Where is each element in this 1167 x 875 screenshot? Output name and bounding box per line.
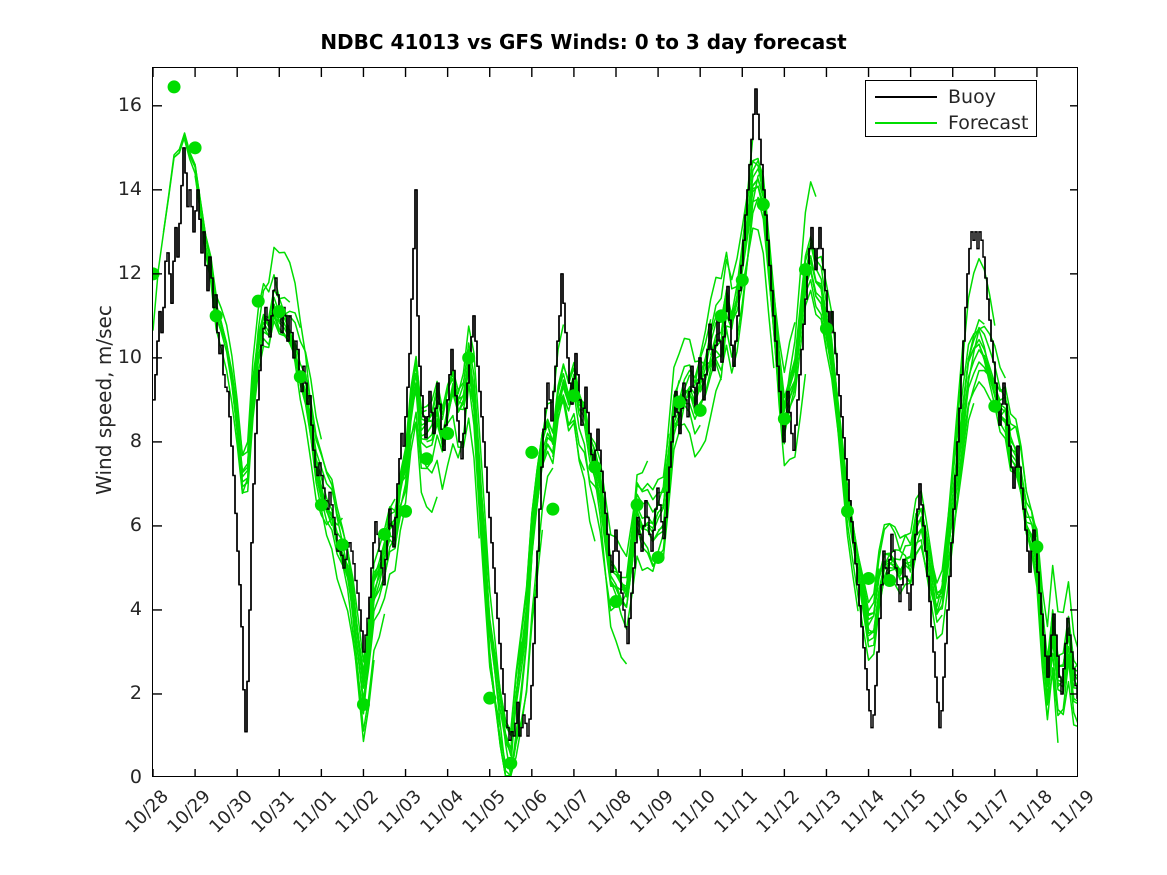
chart-figure: NDBC 41013 vs GFS Winds: 0 to 3 day fore… xyxy=(0,0,1167,875)
y-tick-label: 10 xyxy=(100,346,142,368)
forecast-marker xyxy=(504,757,517,770)
forecast-marker xyxy=(631,498,644,511)
forecast-marker xyxy=(252,295,265,308)
legend-entry-forecast: Forecast xyxy=(866,110,1038,136)
forecast-marker xyxy=(441,427,454,440)
y-tick-label: 2 xyxy=(100,682,142,704)
forecast-marker xyxy=(652,551,665,564)
forecast-marker xyxy=(757,198,770,211)
forecast-run-line xyxy=(490,364,616,749)
y-tick-label: 6 xyxy=(100,514,142,536)
forecast-marker xyxy=(841,505,854,518)
forecast-marker xyxy=(462,351,475,364)
axis-inner-ticks xyxy=(153,68,1078,777)
forecast-marker xyxy=(610,595,623,608)
forecast-run-line xyxy=(953,344,1078,652)
forecast-marker xyxy=(420,452,433,465)
forecast-run-line xyxy=(227,315,353,596)
plot-area xyxy=(152,67,1078,777)
forecast-marker xyxy=(799,263,812,276)
buoy-series-line xyxy=(153,89,1078,740)
forecast-marker xyxy=(546,503,559,516)
forecast-marker xyxy=(357,698,370,711)
forecast-marker xyxy=(1030,540,1043,553)
forecast-marker xyxy=(189,141,202,154)
forecast-series-lines xyxy=(153,133,1078,776)
forecast-marker xyxy=(736,274,749,287)
forecast-marker xyxy=(778,412,791,425)
forecast-marker xyxy=(210,309,223,322)
y-tick-label: 16 xyxy=(100,94,142,116)
chart-legend: Buoy Forecast xyxy=(865,80,1037,137)
forecast-marker xyxy=(525,446,538,459)
legend-label-buoy: Buoy xyxy=(948,88,996,107)
forecast-marker xyxy=(715,309,728,322)
forecast-run-line xyxy=(921,350,1047,718)
forecast-marker xyxy=(336,538,349,551)
legend-swatch-buoy xyxy=(875,96,937,98)
forecast-marker xyxy=(862,572,875,585)
forecast-marker xyxy=(988,400,1001,413)
legend-swatch-forecast xyxy=(875,122,937,124)
y-tick-label: 8 xyxy=(100,430,142,452)
y-tick-label: 0 xyxy=(100,766,142,788)
forecast-run-line xyxy=(753,179,879,625)
forecast-marker xyxy=(588,461,601,474)
y-tick-label: 12 xyxy=(100,262,142,284)
forecast-marker xyxy=(483,692,496,705)
y-tick-label: 4 xyxy=(100,598,142,620)
buoy-line xyxy=(153,89,1078,740)
chart-title: NDBC 41013 vs GFS Winds: 0 to 3 day fore… xyxy=(0,30,1167,54)
forecast-run-line xyxy=(427,343,553,776)
forecast-marker xyxy=(883,574,896,587)
forecast-marker xyxy=(273,305,286,318)
series-canvas xyxy=(153,68,1078,777)
forecast-run-line xyxy=(553,375,679,629)
forecast-marker xyxy=(399,505,412,518)
forecast-marker xyxy=(673,395,686,408)
forecast-marker xyxy=(168,80,181,93)
y-axis-label: Wind speed, m/sec xyxy=(92,250,116,550)
forecast-marker xyxy=(378,528,391,541)
forecast-marker xyxy=(820,322,833,335)
legend-entry-buoy: Buoy xyxy=(866,84,1038,110)
forecast-marker xyxy=(315,498,328,511)
forecast-marker xyxy=(294,370,307,383)
forecast-run-line xyxy=(732,186,858,611)
legend-label-forecast: Forecast xyxy=(948,114,1028,133)
forecast-marker xyxy=(567,389,580,402)
y-tick-label: 14 xyxy=(100,178,142,200)
forecast-marker xyxy=(694,404,707,417)
forecast-run-line xyxy=(963,340,1078,689)
forecast-run-line xyxy=(311,422,437,672)
forecast-marker-points xyxy=(153,80,1043,769)
